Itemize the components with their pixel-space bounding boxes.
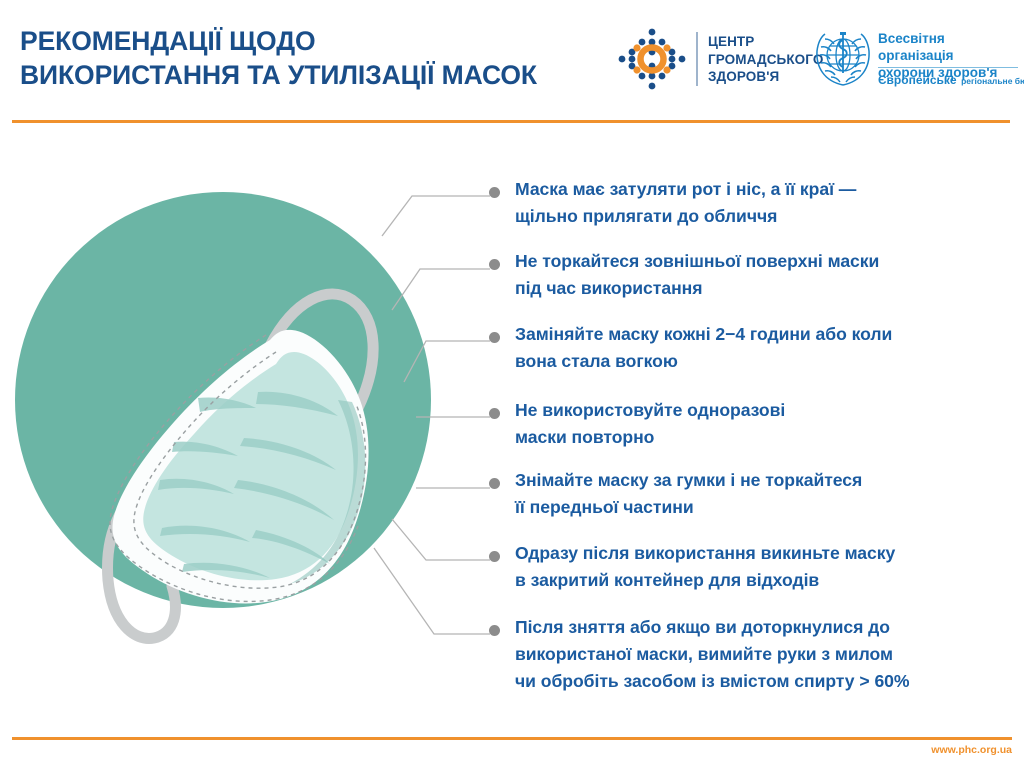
list-item-text: Не використовуйте одноразові маски повто… <box>515 397 1007 451</box>
phc-dot-diamond-icon <box>610 26 694 92</box>
leader-line-1 <box>382 196 490 236</box>
leader-line-2 <box>392 269 490 310</box>
phc-logo: ЦЕНТР ГРОМАДСЬКОГО ЗДОРОВ'Я <box>610 26 810 92</box>
list-item-text: Після зняття або якщо ви доторкнулися до… <box>515 614 1007 695</box>
bullet-dot-icon <box>489 332 500 343</box>
list-item-text: Знімайте маску за гумки і не торкайтеся … <box>515 467 1007 521</box>
leader-line-6 <box>392 519 490 560</box>
list-item-text: Заміняйте маску кожні 2−4 години або кол… <box>515 321 1007 375</box>
phc-logo-text: ЦЕНТР ГРОМАДСЬКОГО ЗДОРОВ'Я <box>708 33 823 86</box>
who-emblem-icon <box>812 27 874 89</box>
who-office-label: регіональне бюро <box>961 76 1024 86</box>
bullet-dot-icon <box>489 187 500 198</box>
header-divider-rule <box>12 120 1010 123</box>
footer-url[interactable]: www.phc.org.ua <box>0 744 1012 756</box>
list-item-text: Не торкайтеся зовнішньої поверхні маски … <box>515 248 1007 302</box>
bullet-dot-icon <box>489 551 500 562</box>
header: РЕКОМЕНДАЦІЇ ЩОДО ВИКОРИСТАННЯ ТА УТИЛІЗ… <box>0 0 1024 118</box>
who-logo-subtitle: Європейське регіональне бюро <box>878 71 1024 89</box>
list-item-text: Одразу після використання викиньте маску… <box>515 540 1007 594</box>
bullet-dot-icon <box>489 625 500 636</box>
bullet-dot-icon <box>489 478 500 489</box>
who-logo-divider <box>878 67 1018 68</box>
leader-line-7 <box>374 548 490 634</box>
leader-line-3 <box>404 341 490 382</box>
list-item-text: Маска має затуляти рот і ніс, а її краї … <box>515 176 1007 230</box>
footer-divider-rule <box>12 737 1012 740</box>
who-region-label: Європейське <box>878 73 957 87</box>
who-logo: Всесвітня організація охорони здоров'я Є… <box>812 26 1017 96</box>
leader-lines <box>330 170 510 660</box>
phc-logo-divider <box>696 32 698 86</box>
bullet-dot-icon <box>489 408 500 419</box>
bullet-dot-icon <box>489 259 500 270</box>
page-title: РЕКОМЕНДАЦІЇ ЩОДО ВИКОРИСТАННЯ ТА УТИЛІЗ… <box>20 24 600 92</box>
